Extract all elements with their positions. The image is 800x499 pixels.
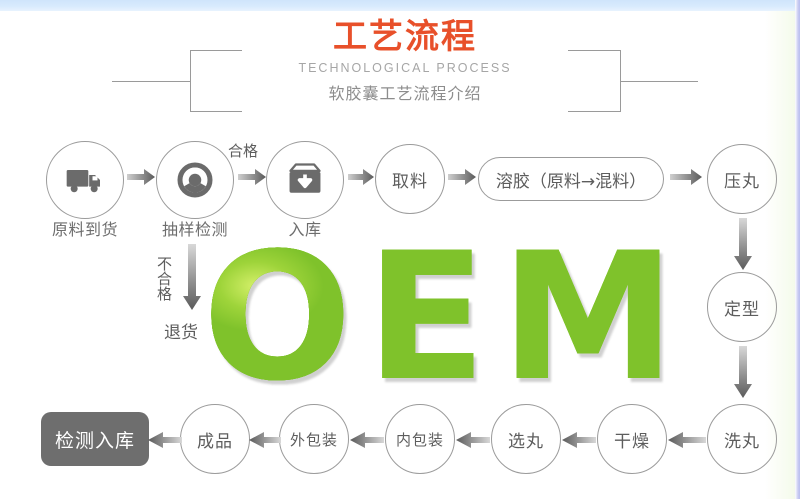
node-take-material[interactable]: 取料 [375,144,445,214]
arrow-n1-n2 [127,168,155,186]
node-shaping[interactable]: 定型 [707,272,777,342]
node-raw-material-arrival[interactable] [46,141,124,219]
node-sampling-inspection[interactable] [156,141,234,219]
node-pill-washing[interactable]: 洗丸 [707,404,777,474]
arrow-n9-n10 [562,431,596,449]
arrow-n2-n3 [238,168,266,186]
label-fail: 不合格 [154,256,175,301]
node-warehouse-in[interactable] [266,141,344,219]
arrow-n11-n12 [350,431,384,449]
node-gel-dissolving[interactable]: 溶胶（原料→混料） [478,157,664,201]
label-pass: 合格 [228,140,258,161]
node-inner-packaging[interactable]: 内包装 [385,404,455,474]
title-block: 工艺流程 TECHNOLOGICAL PROCESS 软胶囊工艺流程介绍 [240,16,570,112]
node-drying[interactable]: 干燥 [597,404,667,474]
arrow-fail-down [182,244,202,316]
inspection-gear-icon [175,160,215,200]
node-final-inspection-warehouse[interactable]: 检测入库 [41,412,149,466]
arrow-n7-n8 [733,346,753,402]
page-title-en: TECHNOLOGICAL PROCESS [240,60,570,76]
arrow-n5-n6 [670,168,702,186]
title-bracket-right [568,50,638,112]
truck-icon [65,160,105,200]
node-outer-packaging[interactable]: 外包装 [279,404,349,474]
caption-warehouse-in: 入库 [258,216,352,240]
arrow-n12-n13 [249,431,281,449]
caption-raw-material-arrival: 原料到货 [30,216,140,240]
arrow-n13-n14 [148,431,182,449]
right-decor-band [795,0,800,499]
arrow-n3-n4 [348,168,374,186]
page-title: 工艺流程 [240,18,570,56]
node-pill-pressing[interactable]: 压丸 [707,144,777,214]
title-bracket-left [172,50,242,112]
arrow-n4-n5 [448,168,476,186]
arrow-n8-n9 [668,431,706,449]
caption-sampling-inspection: 抽样检测 [140,216,250,240]
oem-watermark: OEM [196,238,696,398]
top-decor-band [0,0,800,11]
node-pill-selecting[interactable]: 选丸 [491,404,561,474]
process-flow-poster: 工艺流程 TECHNOLOGICAL PROCESS 软胶囊工艺流程介绍 OEM… [0,0,800,499]
page-subtitle: 软胶囊工艺流程介绍 [240,84,570,104]
label-return-goods: 退货 [164,318,198,343]
inbox-archive-icon [285,160,325,200]
arrow-n10-n11 [456,431,490,449]
arrow-n6-n7 [733,218,753,274]
node-finished-product[interactable]: 成品 [180,404,250,474]
